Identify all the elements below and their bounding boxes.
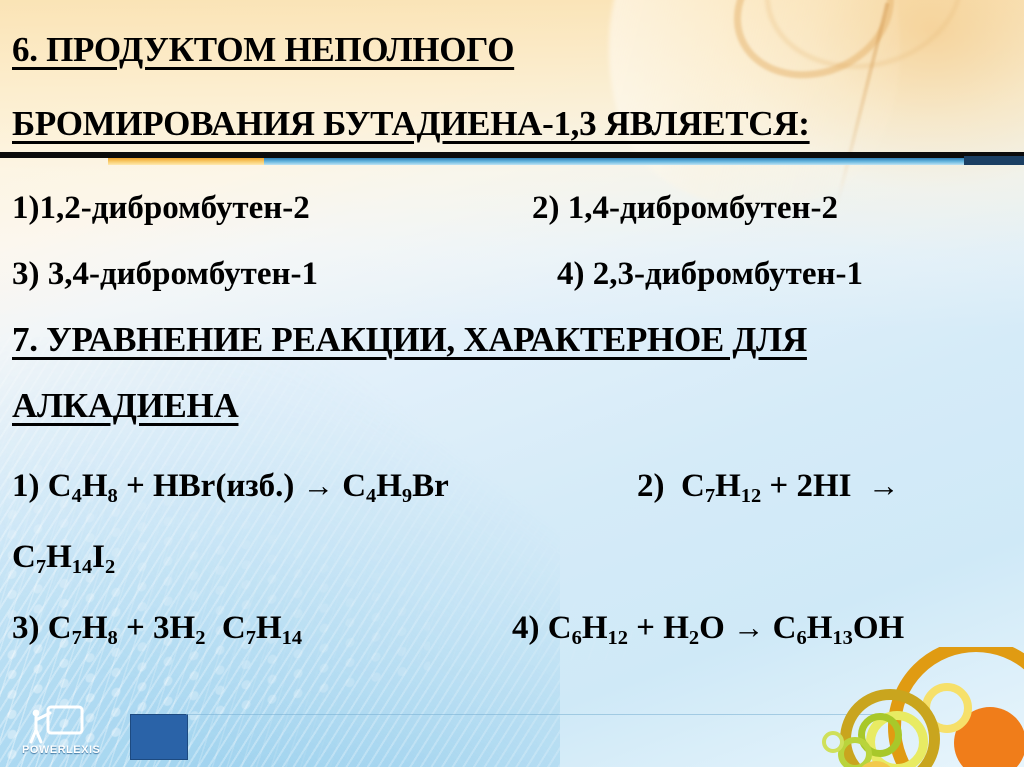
question7-option-1-number: 1) [12,468,40,504]
question6-heading-line2: БРОМИРОВАНИЯ БУТАДИЕНА-1,3 ЯВЛЯЕТСЯ: [12,106,810,141]
decorative-circles [794,647,1024,767]
divider-navy-cap [964,156,1024,165]
footer-divider-line [186,714,886,715]
powerlexis-wordmark: POWERLEXIS [22,744,100,756]
question6-option-1[interactable]: 1)1,2-дибромбутен-2 [12,192,532,225]
divider-blue-segment [264,158,964,165]
question7-options-row-1: 1) C4H8 + HBr(изб.) → C4H9Br2) C7H12 + 2… [12,470,1012,507]
reaction-arrow-icon: → [303,468,334,503]
question7-options-row-2: 3) C7H8 + 3H2 C7H144) C6H12 + H2O → C6H1… [12,612,1012,649]
decor-ring-green-tiny [822,731,844,753]
powerlexis-logo: POWERLEXIS [22,704,94,760]
question6-heading-line1: 6. ПРОДУКТОМ НЕПОЛНОГО [12,32,514,67]
divider-gold-segment [108,158,264,165]
question7-heading-line1: 7. УРАВНЕНИЕ РЕАКЦИИ, ХАРАКТЕРНОЕ ДЛЯ [12,322,807,357]
question6-options-row-2: 3) 3,4-дибромбутен-14) 2,3-дибромбутен-1 [12,258,1012,291]
question7-option-1[interactable]: 1) C4H8 + HBr(изб.) → C4H9Br [12,470,637,507]
question7-option-4[interactable]: 4) C6H12 + H2O → C6H13OH [512,612,904,649]
question7-option-4-number: 4) [512,610,540,646]
slide-canvas: 6. ПРОДУКТОМ НЕПОЛНОГО БРОМИРОВАНИЯ БУТА… [0,0,1024,767]
presenter-board-icon [22,704,94,746]
question6-option-3[interactable]: 3) 3,4-дибромбутен-1 [12,258,557,291]
question7-option-2-number: 2) [637,468,665,504]
question6-option-2[interactable]: 2) 1,4-дибромбутен-2 [532,192,838,225]
question7-option-2[interactable]: 2) C7H12 + 2HI → [637,470,899,507]
footer-blue-square [130,714,188,760]
reaction-arrow-icon: → [868,468,899,503]
question7-option-3-number: 3) [12,610,40,646]
title-divider [0,152,1024,165]
reaction-arrow-icon: → [733,610,764,645]
question7-heading-line2: АЛКАДИЕНА [12,388,238,423]
question6-option-4[interactable]: 4) 2,3-дибромбутен-1 [557,258,863,291]
question7-option-3[interactable]: 3) C7H8 + 3H2 C7H14 [12,612,512,649]
question7-option-2-continuation[interactable]: C7H14I2 [12,541,1012,578]
question6-options-row-1: 1)1,2-дибромбутен-22) 1,4-дибромбутен-2 [12,192,1012,225]
